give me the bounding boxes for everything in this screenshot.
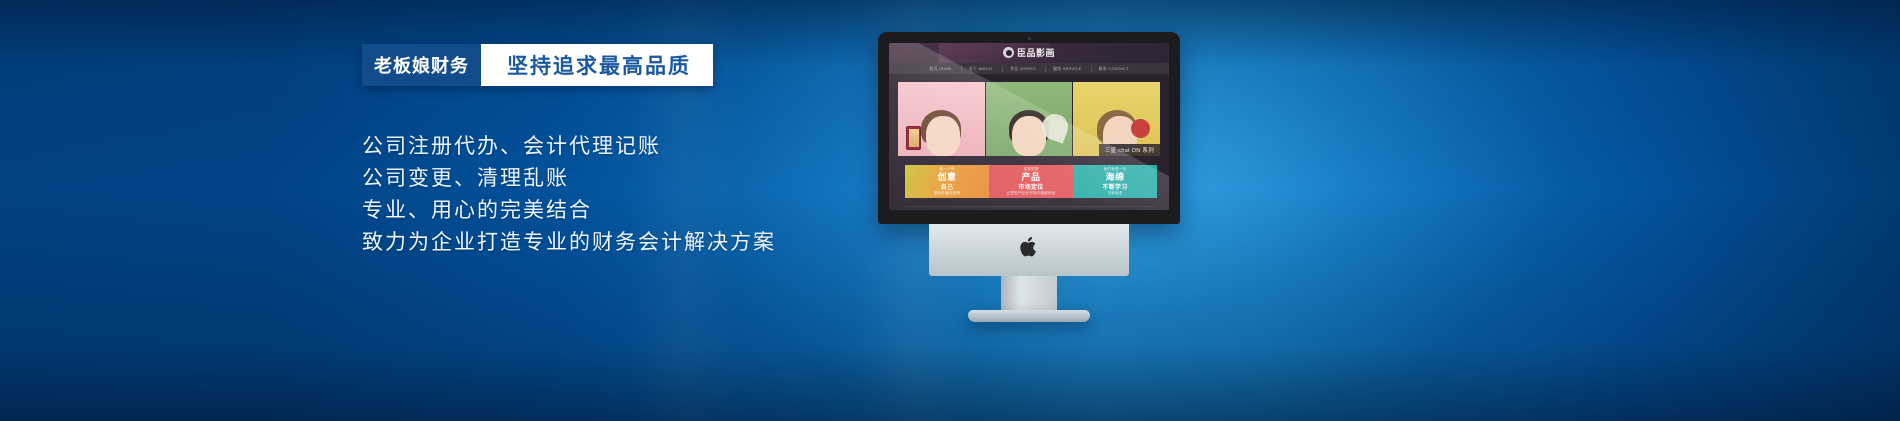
phone-prop-icon <box>906 126 921 150</box>
service-line-3: 专业、用心的完美结合 <box>362 196 882 226</box>
apple-icon <box>1019 235 1039 259</box>
service-line-2: 公司变更、清理乱账 <box>362 164 882 194</box>
brand-slogan: 坚持追求最高品质 <box>481 44 713 86</box>
imac-display-bezel: 臣品影画 首页 HOME 关于 ABOUT 作品 WORKS 服务 SERVIC… <box>878 32 1180 224</box>
panel-1-small-bottom: 做有态度的品牌 <box>934 191 961 196</box>
banner-title-bar: 老板娘财务 坚持追求最高品质 <box>362 44 713 86</box>
panel-1-subheading: 自己 <box>941 182 954 191</box>
panel-3-subheading: 不断学习 <box>1102 182 1127 191</box>
nav-item-home[interactable]: 首页 HOME <box>929 66 952 72</box>
feature-panel-creative[interactable]: 做一个有 创意 自己 做有态度的品牌 <box>905 165 989 198</box>
website-preview: 臣品影画 首页 HOME 关于 ABOUT 作品 WORKS 服务 SERVIC… <box>889 43 1169 210</box>
imac-stand <box>1001 276 1057 310</box>
site-footer: 最新动态 用心服务每一位客户，成就每一个品牌 品牌设计 网站建设 影视拍摄 <box>905 206 1155 210</box>
site-logo[interactable]: 臣品影画 <box>1003 46 1055 59</box>
aperture-icon <box>1003 47 1014 58</box>
brand-name: 老板娘财务 <box>362 44 481 86</box>
panel-3-heading: 海绵 <box>1105 172 1124 182</box>
promo-banner: 老板娘财务 坚持追求最高品质 公司注册代办、会计代理记账 公司变更、清理乱账 专… <box>0 0 1900 421</box>
imac-foot <box>968 310 1090 322</box>
panel-2-subheading: 市场定位 <box>1018 182 1043 191</box>
site-hero-strip: 臣品影画 <box>889 43 1169 63</box>
service-line-4: 致力为企业打造专业的财务会计解决方案 <box>362 228 882 258</box>
apple-prop-icon <box>1131 119 1150 138</box>
feature-panel-product[interactable]: 找准您的 产品 市场定位 让您的产品在市场中脱颖而出 <box>989 165 1073 198</box>
service-line-1: 公司注册代办、会计代理记账 <box>362 132 882 162</box>
gallery-item-1[interactable] <box>898 82 985 156</box>
feature-panel-sponge[interactable]: 我们就是一块 海绵 不断学习 不断吸收 <box>1073 165 1157 198</box>
gallery-item-2[interactable] <box>986 82 1073 156</box>
panel-3-small-bottom: 不断吸收 <box>1107 191 1122 196</box>
nav-item-about[interactable]: 关于 ABOUT <box>961 66 994 72</box>
nav-item-service[interactable]: 服务 SERVICE <box>1045 66 1082 72</box>
site-gallery: 三星 chat ON 系列 <box>898 82 1160 156</box>
site-feature-panels: 做一个有 创意 自己 做有态度的品牌 找准您的 产品 市场定位 让您的产品在市场… <box>905 165 1157 198</box>
site-navigation: 首页 HOME 关于 ABOUT 作品 WORKS 服务 SERVICE 联系 … <box>889 63 1169 75</box>
banner-copy: 老板娘财务 坚持追求最高品质 公司注册代办、会计代理记账 公司变更、清理乱账 专… <box>362 44 882 260</box>
imac-illustration: 臣品影画 首页 HOME 关于 ABOUT 作品 WORKS 服务 SERVIC… <box>878 32 1180 322</box>
nav-item-works[interactable]: 作品 WORKS <box>1002 66 1036 72</box>
panel-2-small-bottom: 让您的产品在市场中脱颖而出 <box>1006 191 1055 196</box>
gallery-caption: 三星 chat ON 系列 <box>1099 144 1160 156</box>
service-list: 公司注册代办、会计代理记账 公司变更、清理乱账 专业、用心的完美结合 致力为企业… <box>362 132 882 258</box>
panel-2-heading: 产品 <box>1021 172 1040 182</box>
site-logo-text: 臣品影画 <box>1017 46 1055 59</box>
nav-item-contact[interactable]: 联系 CONTACT <box>1091 66 1129 72</box>
webcam-icon <box>1028 37 1031 40</box>
panel-1-heading: 创意 <box>937 172 956 182</box>
imac-chin <box>929 224 1129 276</box>
